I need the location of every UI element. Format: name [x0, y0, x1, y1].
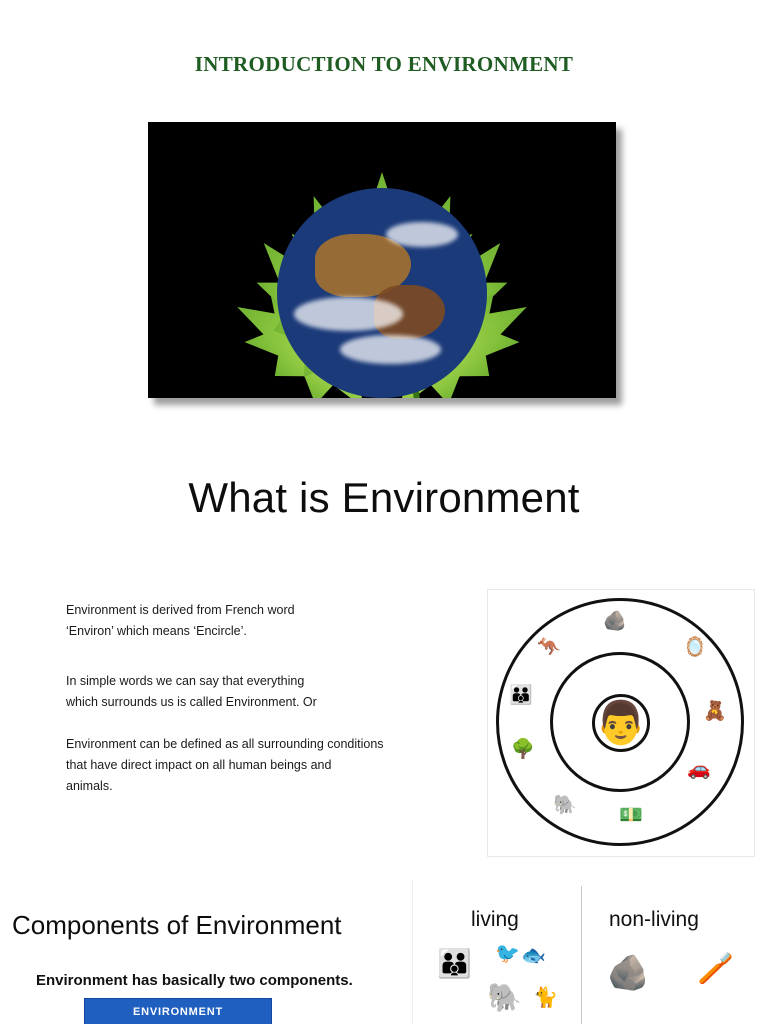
- environment-encircle-diagram: 👨 🪨 🪞 🧸 🚗 💵 🐘 🌳 👪 🦘: [487, 589, 755, 857]
- section-heading-what-is-environment: What is Environment: [0, 474, 768, 522]
- person-icon: 👨: [595, 702, 647, 744]
- section-heading-components: Components of Environment: [12, 910, 342, 941]
- cat-icon: 🐈: [533, 988, 558, 1008]
- earth-in-leaves-photo: [148, 122, 616, 398]
- definition-line: ‘Environ’ which means ‘Encircle’.: [66, 625, 466, 646]
- panel-divider: [581, 886, 582, 1024]
- elephant-icon: 🐘: [550, 796, 580, 815]
- bird-icon: 🐦: [495, 944, 520, 964]
- definition-line: Environment can be defined as all surrou…: [66, 738, 466, 759]
- living-nonliving-image: living non-living 👪 🐦 🐟 🐘 🐈 🪨 🪥: [412, 880, 768, 1024]
- globe-cloud: [294, 297, 403, 331]
- globe-cloud: [340, 335, 441, 364]
- definition-line: Environment is derived from French word: [66, 604, 466, 625]
- definition-line: In simple words we can say that everythi…: [66, 675, 466, 696]
- fish-icon: 🐟: [521, 946, 546, 966]
- components-subheading: Environment has basically two components…: [36, 972, 353, 989]
- elephant-icon: 🐘: [487, 984, 522, 1012]
- definition-line: animals.: [66, 780, 466, 801]
- definition-text-block: Environment is derived from French word …: [66, 604, 466, 801]
- living-label: living: [471, 908, 519, 932]
- paragraph-gap: [66, 646, 466, 675]
- definition-line: which surrounds us is called Environment…: [66, 696, 466, 717]
- page-title: INTRODUCTION TO ENVIRONMENT: [0, 52, 768, 77]
- animals-icon: 🦘: [534, 638, 564, 657]
- earth-globe-icon: [277, 188, 487, 398]
- table-icon: 🪞: [680, 638, 710, 657]
- hero-image-canvas: [148, 122, 616, 398]
- slide-components-of-environment: Components of Environment Environment ha…: [0, 880, 768, 1024]
- rocks-icon: 🪨: [607, 956, 649, 990]
- doll-icon: 🧸: [700, 702, 730, 721]
- definition-line: that have direct impact on all human bei…: [66, 759, 466, 780]
- car-icon: 🚗: [684, 760, 714, 779]
- environment-node-box: ENVIRONMENT: [84, 998, 272, 1024]
- money-icon: 💵: [616, 806, 646, 825]
- paragraph-gap: [66, 717, 466, 738]
- rocks-icon: 🪨: [600, 612, 630, 631]
- toothbrush-icon: 🪥: [697, 954, 734, 984]
- slide-introduction-to-environment: INTRODUCTION TO ENVIRONMENT What is Envi…: [0, 0, 768, 880]
- globe-cloud: [386, 222, 457, 247]
- family-icon: 👪: [506, 686, 536, 705]
- tree-icon: 🌳: [508, 740, 538, 759]
- nonliving-label: non-living: [609, 908, 699, 932]
- family-icon: 👪: [437, 950, 472, 978]
